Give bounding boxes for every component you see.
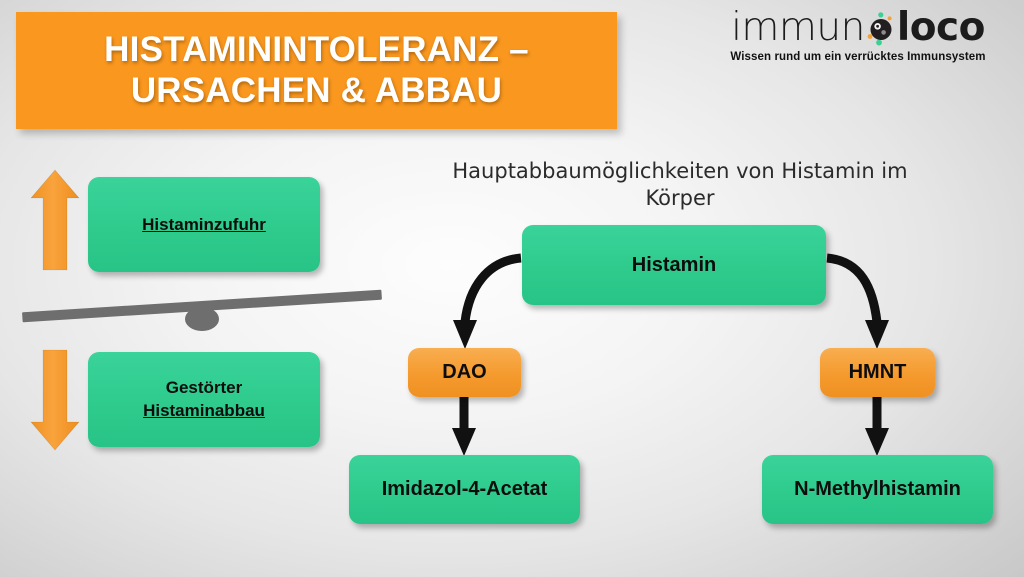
box-impaired-breakdown-line1: Gestörter [166, 378, 243, 397]
logo-word-loco: loco [897, 5, 985, 50]
brand-logo[interactable]: immun loco Wissen rund um ein verrücktes… [708, 6, 1008, 63]
box-histamin-source-label: Histamin [632, 254, 716, 277]
box-impaired-breakdown-text: Gestörter Histaminabbau [143, 377, 265, 423]
box-product-imidazol-label: Imidazol-4-Acetat [382, 478, 548, 501]
arrow-up-icon [29, 168, 81, 272]
title-line-2: URSACHEN & ABBAU [131, 71, 502, 110]
box-impaired-breakdown-line2: Histaminabbau [143, 401, 265, 420]
box-product-methylhistamin: N-Methylhistamin [762, 455, 993, 524]
box-enzyme-dao: DAO [408, 348, 521, 397]
title-banner: HISTAMININTOLERANZ – URSACHEN & ABBAU [16, 12, 617, 129]
box-histamin-intake-label: Histaminzufuhr [142, 215, 266, 235]
box-enzyme-hmnt: HMNT [820, 348, 935, 397]
logo-word-immun: immun [731, 5, 865, 50]
flowchart-heading: Hauptabbaumöglichkeiten von Histamin im … [430, 158, 930, 213]
box-histamin-source: Histamin [522, 225, 826, 305]
page-title: HISTAMININTOLERANZ – URSACHEN & ABBAU [90, 30, 543, 112]
box-histamin-intake: Histaminzufuhr [88, 177, 320, 272]
box-impaired-breakdown: Gestörter Histaminabbau [88, 352, 320, 447]
logo-wordmark: immun loco [731, 6, 985, 50]
logo-cell-icon [864, 12, 898, 46]
flowchart-heading-line2: Körper [645, 186, 714, 210]
box-product-methylhistamin-label: N-Methylhistamin [794, 478, 961, 501]
title-line-1: HISTAMININTOLERANZ – [104, 30, 529, 69]
balance-seesaw [20, 268, 384, 338]
box-enzyme-dao-label: DAO [442, 361, 486, 384]
logo-tagline: Wissen rund um ein verrücktes Immunsyste… [708, 51, 1008, 63]
flowchart-heading-line1: Hauptabbaumöglichkeiten von Histamin im [452, 159, 907, 183]
box-enzyme-hmnt-label: HMNT [849, 361, 907, 384]
arrow-down-icon [29, 348, 81, 452]
slide-canvas: HISTAMININTOLERANZ – URSACHEN & ABBAU im… [0, 0, 1024, 577]
box-product-imidazol: Imidazol-4-Acetat [349, 455, 580, 524]
